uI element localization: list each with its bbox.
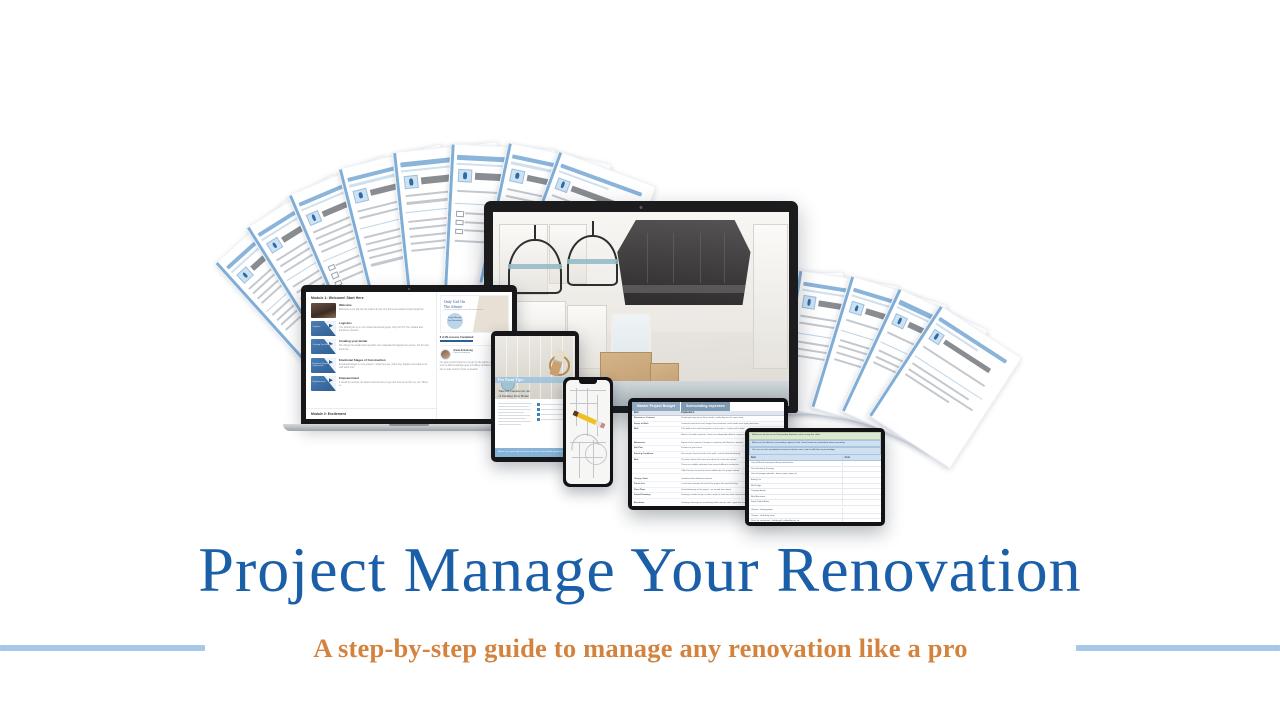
table-row: Perks for contractors - holiday gift, co… bbox=[749, 519, 881, 522]
lesson-thumbnail: Emotional Stages of Construction bbox=[311, 358, 336, 373]
bullet-square-icon bbox=[537, 413, 540, 416]
lesson-thumbnail: Creating Your Binder bbox=[311, 339, 336, 354]
page-title: Project Manage Your Renovation bbox=[0, 536, 1280, 603]
sheet-note: You can use this spreadsheet to forecast… bbox=[749, 447, 881, 455]
avatar bbox=[440, 349, 451, 360]
lesson-name: Welcome bbox=[339, 303, 424, 307]
lesson-name: Logistics bbox=[339, 321, 432, 325]
surrounding-expenses-sheet: Reference the lesson on Surrounding Expe… bbox=[749, 432, 881, 522]
lesson-description: You should join us in our private Facebo… bbox=[339, 326, 432, 332]
brand-card: Only Girl On The Jobsite an online renov… bbox=[440, 295, 509, 333]
phone-screen-blueprint bbox=[566, 380, 610, 484]
lesson-thumbnail: Empowerment bbox=[311, 376, 336, 391]
column-header-item: Item bbox=[749, 455, 842, 460]
brand-badge: Project Manage Your Renovation bbox=[447, 313, 463, 329]
lesson-description: We will go into detail about specific co… bbox=[339, 344, 432, 350]
sheet-note: Below are the different surrounding expe… bbox=[749, 440, 881, 448]
lesson-row[interactable]: Emotional Stages of Construction Emotion… bbox=[311, 358, 432, 373]
lesson-progress-count: 6 of 29 Lessons Completed bbox=[440, 336, 474, 342]
brand-badge-label: Project Manage Your Renovation bbox=[447, 317, 463, 322]
pencil-icon bbox=[573, 411, 606, 429]
module-2-title[interactable]: Module 2: Excitement bbox=[306, 408, 436, 419]
lesson-thumbnail: Logistics bbox=[311, 321, 336, 336]
lesson-description: It would be serious. It's what it was th… bbox=[339, 381, 432, 387]
tab-surrounding-expenses[interactable]: Surrounding expenses bbox=[681, 402, 731, 411]
lesson-name: Empowerment bbox=[339, 376, 432, 380]
divider-line-right bbox=[1076, 645, 1280, 651]
expenses-spreadsheet-device: Reference the lesson on Surrounding Expe… bbox=[745, 428, 885, 526]
lesson-row[interactable]: Welcome Welcome! Let's dig into the basi… bbox=[311, 303, 432, 318]
lesson-thumbnail bbox=[311, 303, 336, 318]
module-title: Module 1: Welcome! Start Here bbox=[311, 296, 432, 300]
lesson-name: Emotional Stages of Construction bbox=[339, 358, 432, 362]
column-header-explanation: Explanation bbox=[679, 411, 784, 415]
lesson-row[interactable]: Creating Your Binder Creating your binde… bbox=[311, 339, 432, 354]
comment-link[interactable]: Course Instructor bbox=[453, 352, 472, 354]
brand-tagline: an online renovation course for homeowne… bbox=[444, 309, 483, 311]
tab-master-project-budget[interactable]: Master Project Budget bbox=[632, 402, 681, 411]
hearts-icon: ♡♡ bbox=[529, 404, 538, 409]
lesson-description: Welcome! Let's dig into the basics & cor… bbox=[339, 308, 424, 311]
lesson-thumb-label: Creating Your Binder bbox=[313, 344, 331, 346]
headline-line-2: of Painting Your Home bbox=[498, 394, 529, 398]
camera-icon bbox=[640, 206, 643, 209]
product-mockup-collage: Module 1: Welcome! Start Here Welcome We… bbox=[0, 0, 1280, 540]
laptop-screen-course-page: Module 1: Welcome! Start Here Welcome We… bbox=[306, 292, 512, 419]
lesson-row[interactable]: Logistics Logistics You should join us i… bbox=[311, 321, 432, 336]
phone-notch bbox=[579, 380, 597, 384]
camera-icon bbox=[408, 288, 410, 290]
lesson-name: Creating your binder bbox=[339, 339, 432, 343]
subtitle-row: A step-by-step guide to manage any renov… bbox=[0, 626, 1280, 670]
bullet-square-icon bbox=[537, 418, 540, 421]
phone-device bbox=[563, 377, 613, 487]
lesson-description: Emotional stages is very present - what … bbox=[339, 363, 432, 369]
sheet-note: Reference the lesson on Surrounding Expe… bbox=[749, 432, 881, 440]
divider-line-left bbox=[0, 645, 205, 651]
lesson-thumb-label: Logistics bbox=[313, 326, 321, 328]
column-header-cost: Cost bbox=[842, 455, 881, 460]
sheet-tab-bar[interactable]: Master Project Budget Surrounding expens… bbox=[632, 402, 784, 411]
lesson-thumb-label: Emotional Stages of Construction bbox=[313, 363, 337, 367]
lesson-row[interactable]: Empowerment Empowerment It would be seri… bbox=[311, 376, 432, 391]
column-header-item: Item bbox=[632, 411, 679, 415]
page-subtitle: A step-by-step guide to manage any renov… bbox=[205, 633, 1076, 664]
paint-guide-headline: Take the Guesswork out of Painting Your … bbox=[498, 389, 562, 398]
headline-line-1: Take the Guesswork out bbox=[498, 389, 530, 393]
lesson-thumb-label: Empowerment bbox=[313, 381, 326, 383]
